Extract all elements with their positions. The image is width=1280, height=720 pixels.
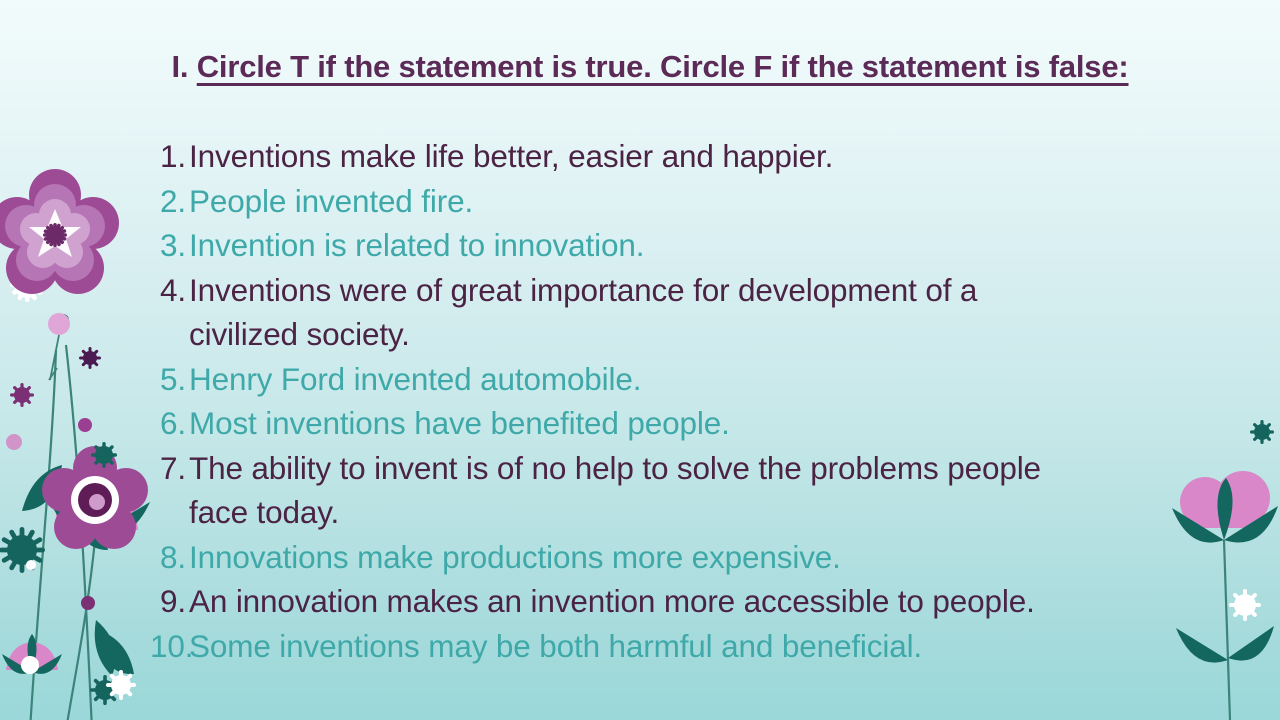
list-item-number: 5. [150,357,186,402]
list-item-text: Inventions were of great importance for … [189,268,977,313]
list-item-number: 10. [150,624,186,669]
list-item-text: The ability to invent is of no help to s… [189,446,1041,491]
list-item-line: 4.Inventions were of great importance fo… [150,268,1225,313]
list-item-number: 6. [150,401,186,446]
purple-dot-icon [1248,483,1262,497]
list-item-number: 4. [150,268,186,313]
purple-layered-flower-icon [0,169,119,294]
list-item-text: An innovation makes an invention more ac… [189,579,1035,624]
page-title: I. Circle T if the statement is true. Ci… [120,44,1180,89]
white-dot-icons [21,560,39,674]
list-item: 8.Innovations make productions more expe… [150,535,1225,580]
pink-bud-icon [48,313,70,380]
list-item: 5.Henry Ford invented automobile. [150,357,1225,402]
white-starburst-icon [1229,589,1261,621]
flower-stems [30,345,95,720]
list-item: 1.Inventions make life better, easier an… [150,134,1225,179]
list-item-text: Henry Ford invented automobile. [189,357,641,402]
list-item: 10.Some inventions may be both harmful a… [150,624,1225,669]
statement-list: 1.Inventions make life better, easier an… [150,134,1225,668]
list-item-number: 7. [150,446,186,491]
list-item: 3.Invention is related to innovation. [150,223,1225,268]
list-item: 4.Inventions were of great importance fo… [150,268,1225,357]
list-item-text: Some inventions may be both harmful and … [189,624,922,669]
list-item-text: Innovations make productions more expens… [189,535,841,580]
white-starburst-icon [10,268,44,302]
list-item-text: Most inventions have benefited people. [189,401,730,446]
list-item: 9.An innovation makes an invention more … [150,579,1225,624]
list-item: 7.The ability to invent is of no help to… [150,446,1225,535]
white-starburst-bottom-icon [106,670,136,700]
list-item-number: 2. [150,179,186,224]
slide-canvas: I. Circle T if the statement is true. Ci… [0,0,1280,720]
list-item-text-continued: face today. [150,490,1225,535]
list-item-number: 9. [150,579,186,624]
list-item-text: People invented fire. [189,179,473,224]
list-item: 2.People invented fire. [150,179,1225,224]
list-item-number: 1. [150,134,186,179]
list-item-text: Invention is related to innovation. [189,223,644,268]
teal-starburst-icon [1250,420,1274,444]
page-title-main: Circle T if the statement is true. Circl… [197,49,1129,84]
list-item-text-continued: civilized society. [150,312,1225,357]
teal-starburst-icons [0,442,120,705]
teal-dot-icon [57,314,69,326]
left-floral-decoration [0,130,170,720]
list-item-line: 7.The ability to invent is of no help to… [150,446,1225,491]
list-item: 6.Most inventions have benefited people. [150,401,1225,446]
purple-starburst-icons [6,347,101,610]
small-pink-tulip-icon [2,634,62,674]
pink-tulip-icon [50,470,150,537]
purple-rose-icon [42,446,148,549]
list-item-number: 8. [150,535,186,580]
list-item-number: 3. [150,223,186,268]
list-item-text: Inventions make life better, easier and … [189,134,833,179]
flower-center-icon [43,223,67,247]
leaf-icons [22,465,134,676]
page-title-prefix: I. [171,49,196,84]
